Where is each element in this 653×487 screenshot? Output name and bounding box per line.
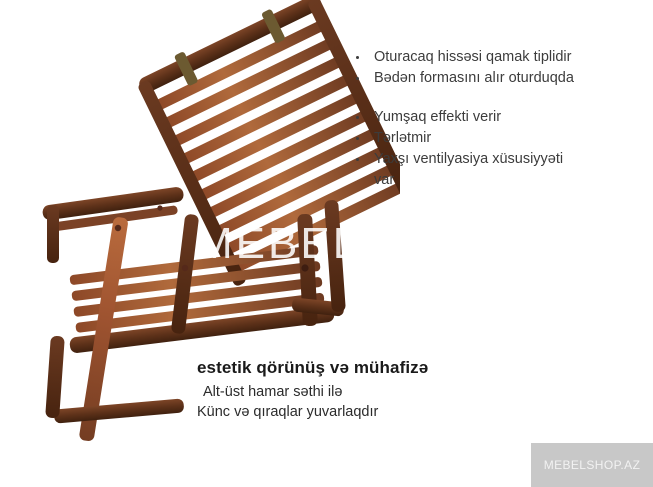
caption-line-surface: Alt-üst hamar səthi ilə — [197, 379, 428, 402]
caption-block: estetik qörünüş və mühafizə Alt-üst hama… — [197, 356, 428, 422]
bullet-dot-icon — [356, 77, 359, 80]
feature-item: Tərlətmir — [352, 128, 563, 149]
feature-list-comfort: Oturacaq hissəsi qamak tiplidir Bədən fo… — [352, 47, 574, 89]
feature-item: Bədən formasını alır oturduqda — [352, 68, 574, 89]
feature-item-label: Yumşaq effekti verir — [374, 109, 501, 125]
feature-item: Yumşaq effekti verir — [352, 107, 563, 128]
feature-item-label: Yaxşı ventilyasiya xüsusiyyəti — [374, 151, 563, 167]
caption-line-edges: Künc və qıraqlar yuvarlaqdır — [197, 402, 428, 422]
feature-list-breathability: Yumşaq effekti verir Tərlətmir Yaxşı ven… — [352, 107, 563, 191]
corner-watermark-label: MEBELSHOP.AZ — [544, 458, 641, 472]
caption-heading: estetik qörünüş və mühafizə — [197, 356, 428, 379]
feature-item: Oturacaq hissəsi qamak tiplidir — [352, 47, 574, 68]
chair-front-leg-frame — [45, 214, 199, 442]
bullet-dot-icon — [356, 137, 359, 140]
armrest-front-post — [47, 205, 59, 263]
feature-item-continuation: var — [352, 170, 563, 191]
slide-canvas: Oturacaq hissəsi qamak tiplidir Bədən fo… — [0, 0, 653, 487]
bullet-dot-icon — [356, 56, 359, 59]
bullet-dot-icon — [356, 158, 359, 161]
feature-item-label: Bədən formasını alır oturduqda — [374, 70, 574, 86]
feature-item-label: Oturacaq hissəsi qamak tiplidir — [374, 49, 571, 65]
feature-item: Yaxşı ventilyasiya xüsusiyyəti — [352, 149, 563, 170]
front-stretcher — [54, 398, 185, 423]
feature-item-label: Tərlətmir — [374, 130, 431, 146]
bullet-dot-icon — [356, 116, 359, 119]
corner-watermark-badge: MEBELSHOP.AZ — [531, 443, 653, 487]
